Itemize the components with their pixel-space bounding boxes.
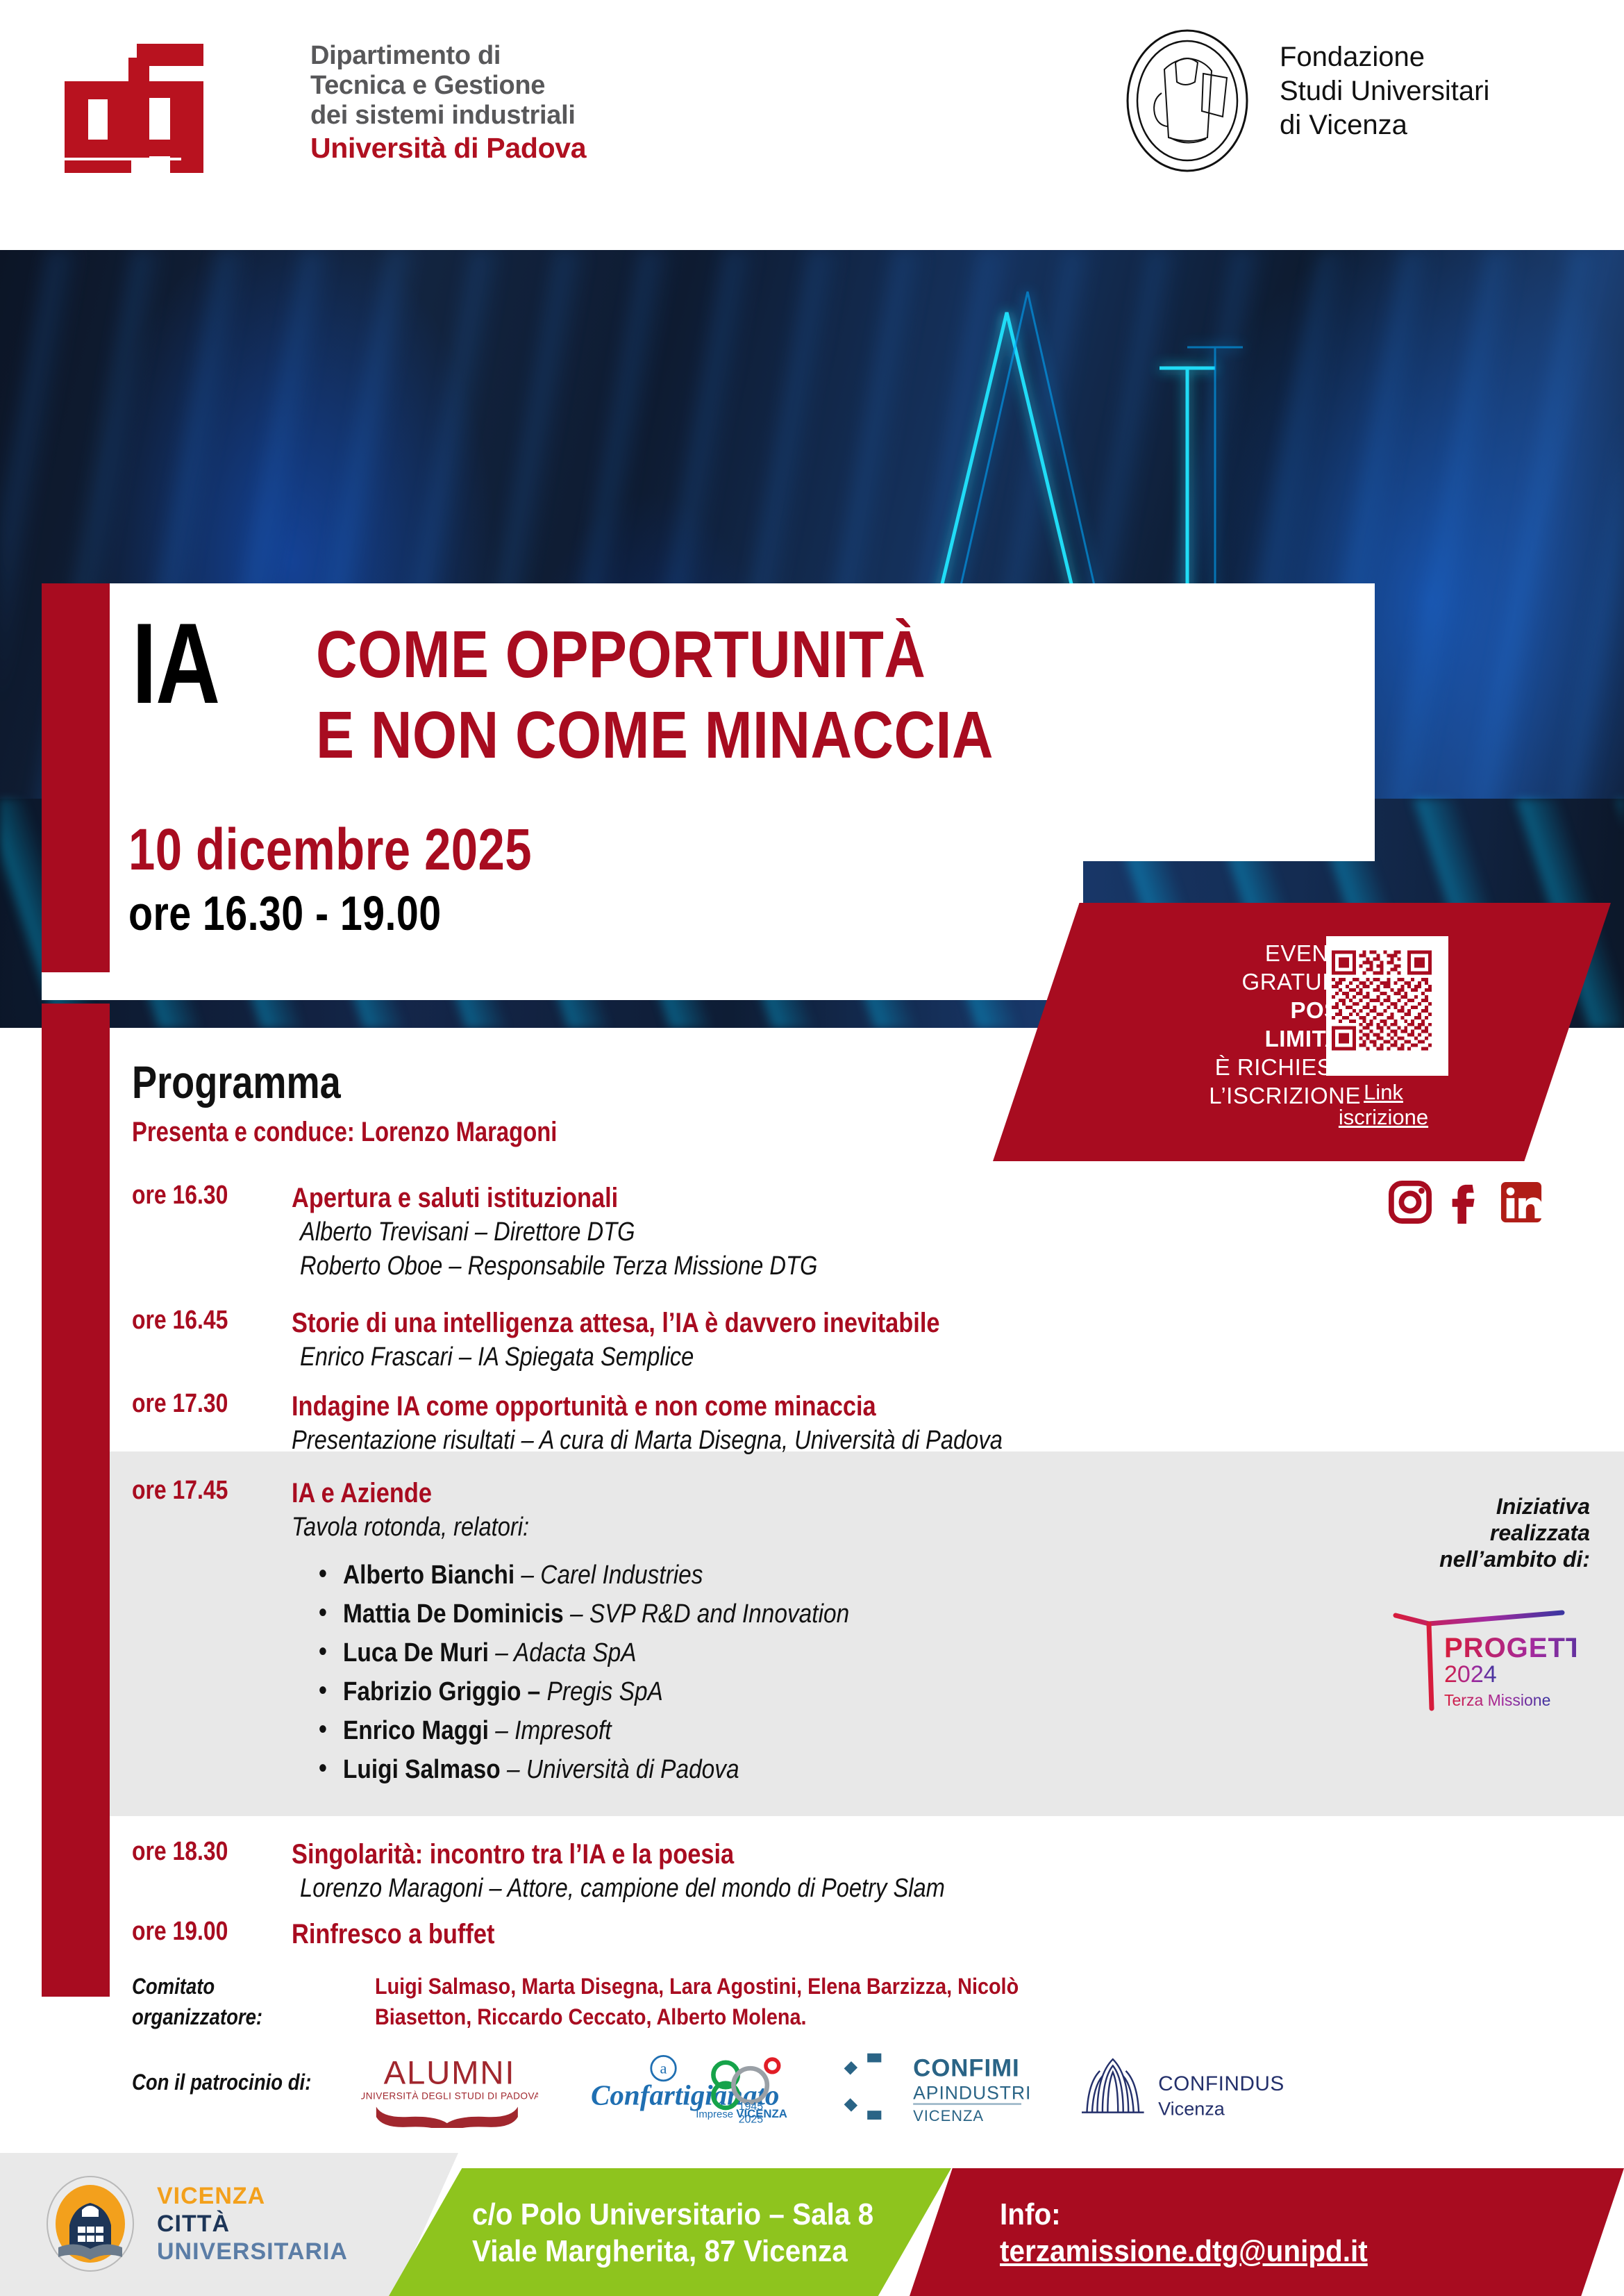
contact-info: Info: terzamissione.dtg@unipd.it — [1000, 2196, 1368, 2270]
panelist-name: Alberto Bianchi — [343, 1561, 514, 1590]
panelist-role: – Impresoft — [495, 1716, 611, 1745]
vicenza-logo-line-3: UNIVERSITARIA — [157, 2238, 348, 2265]
panelist-name: Enrico Maggi — [343, 1716, 489, 1745]
confartigianato-logo-icon: a Confartigianato Imprese VICENZA 1945 2… — [584, 2050, 792, 2131]
poster-footer: VICENZA CITTÀ UNIVERSITARIA c/o Polo Uni… — [0, 2153, 1624, 2296]
program-item-title: Storie di una intelligenza attesa, l’IA … — [292, 1306, 940, 1340]
vicenza-citta-universitaria-logo: VICENZA CITTÀ UNIVERSITARIA — [42, 2175, 348, 2272]
title-accent-bar — [42, 583, 110, 972]
poster-header: Dipartimento di Tecnica e Gestione dei s… — [0, 0, 1624, 250]
svg-text:PROGETTO: PROGETTO — [1444, 1633, 1576, 1663]
university-seal-icon — [1121, 26, 1253, 176]
panelist-name: Mattia De Dominicis — [343, 1599, 564, 1629]
program-item-time: ore 16.45 — [132, 1306, 272, 1336]
list-item: Luca De Muri – Adacta SpA — [343, 1633, 849, 1672]
panelist-role: – Università di Padova — [507, 1755, 739, 1784]
svg-text:APINDUSTRIA: APINDUSTRIA — [913, 2082, 1029, 2103]
svg-text:2025: 2025 — [739, 2113, 763, 2125]
qr-code-icon[interactable] — [1326, 936, 1448, 1076]
initiative-line-3: nell’ambito di: — [1361, 1546, 1590, 1572]
program-item-speaker: Lorenzo Maragoni – Attore, campione del … — [292, 1872, 945, 1906]
svg-text:CONFINDUSTRIA: CONFINDUSTRIA — [1158, 2072, 1283, 2095]
title-headline: COME OPPORTUNITÀ E NON COME MINACCIA — [316, 615, 1104, 776]
venue-line-2: Viale Margherita, 87 Vicenza — [472, 2233, 873, 2270]
initiative-note: Iniziativa realizzata nell’ambito di: — [1361, 1493, 1590, 1572]
initiative-line-2: realizzata — [1361, 1520, 1590, 1546]
info-email-link[interactable]: terzamissione.dtg@unipd.it — [1000, 2234, 1368, 2268]
program-item-time: ore 18.30 — [132, 1837, 272, 1867]
committee-label-l2: organizzatore: — [132, 2002, 262, 2032]
program-item-time: ore 17.30 — [132, 1389, 272, 1419]
venue-line-1: c/o Polo Universitario – Sala 8 — [472, 2196, 873, 2233]
program-item-title: Singolarità: incontro tra l’IA e la poes… — [292, 1837, 945, 1872]
program-item-speaker: Roberto Oboe – Responsabile Terza Missio… — [292, 1249, 817, 1283]
vicenza-seal-icon — [42, 2175, 139, 2272]
page-title: Programma — [132, 1056, 341, 1108]
panelist-role: Pregis SpA — [547, 1677, 663, 1706]
svg-text:a: a — [660, 2059, 667, 2077]
list-item: Alberto Bianchi – Carel Industries — [343, 1556, 849, 1595]
fondazione-line-3: di Vicenza — [1280, 108, 1489, 142]
svg-text:2024: 2024 — [1444, 1661, 1497, 1688]
confimi-apindustria-logo-icon: CONFIMI APINDUSTRIA VICENZA — [838, 2050, 1029, 2131]
dtg-line-2: Tecnica e Gestione — [310, 71, 586, 101]
title-line-1: COME OPPORTUNITÀ — [316, 615, 994, 695]
instagram-icon[interactable] — [1389, 1181, 1432, 1224]
confindustria-logo-icon: CONFINDUSTRIA Vicenza — [1075, 2050, 1283, 2131]
linkedin-icon[interactable] — [1500, 1181, 1543, 1224]
program-item-time: ore 16.30 — [132, 1181, 272, 1211]
program-host: Presenta e conduce: Lorenzo Maragoni — [132, 1117, 557, 1148]
svg-text:VICENZA: VICENZA — [913, 2106, 984, 2124]
panelist-role: – SVP R&D and Innovation — [570, 1599, 849, 1629]
dtg-line-3: dei sistemi industriali — [310, 101, 586, 131]
facebook-icon[interactable] — [1444, 1181, 1487, 1224]
program-item-speaker: Enrico Frascari – IA Spiegata Semplice — [292, 1340, 940, 1374]
dtg-logo: Dipartimento di Tecnica e Gestione dei s… — [59, 38, 586, 174]
fondazione-logo: Fondazione Studi Universitari di Vicenza — [1121, 26, 1489, 176]
event-date: 10 dicembre 2025 — [128, 816, 532, 883]
venue-address: c/o Polo Universitario – Sala 8 Viale Ma… — [472, 2196, 873, 2270]
program-item-speaker: Tavola rotonda, relatori: — [292, 1511, 830, 1545]
program-item-time: ore 17.45 — [132, 1476, 272, 1506]
panelist-name: Luca De Muri — [343, 1638, 489, 1667]
list-item: Fabrizio Griggio – Pregis SpA — [343, 1672, 849, 1711]
svg-text:Terza Missione: Terza Missione — [1444, 1691, 1550, 1709]
fondazione-line-2: Studi Universitari — [1280, 74, 1489, 108]
program-item-title: Indagine IA come opportunità e non come … — [292, 1389, 1003, 1424]
registration-link[interactable]: Link iscrizione — [1319, 1080, 1448, 1130]
list-item: Enrico Maggi – Impresoft — [343, 1711, 849, 1750]
program-item-title: Apertura e saluti istituzionali — [292, 1181, 817, 1215]
dtg-wordmark-icon — [59, 38, 288, 174]
svg-text:Vicenza: Vicenza — [1158, 2098, 1225, 2119]
svg-text:CONFIMI: CONFIMI — [913, 2054, 1019, 2081]
panelist-name: Luigi Salmaso — [343, 1755, 501, 1784]
patronage-label: Con il patrocinio di: — [132, 2070, 311, 2095]
svg-text:1945: 1945 — [739, 2100, 763, 2112]
list-item: Luigi Salmaso – Università di Padova — [343, 1750, 849, 1789]
program-item-title: IA e Aziende — [292, 1476, 830, 1511]
dtg-line-1: Dipartimento di — [310, 41, 586, 71]
committee-names: Luigi Salmaso, Marta Disegna, Lara Agost… — [375, 1971, 1094, 2032]
committee-label-l1: Comitato — [132, 1971, 262, 2002]
svg-text:ALUMNI: ALUMNI — [384, 2054, 516, 2091]
program-item-time: ore 19.00 — [132, 1917, 272, 1947]
program-item-speaker: Alberto Trevisani – Direttore DTG — [292, 1215, 817, 1249]
social-links — [1389, 1181, 1543, 1224]
dtg-line-4: Università di Padova — [310, 131, 586, 165]
panelist-name: Fabrizio Griggio – — [343, 1677, 540, 1706]
info-label: Info: — [1000, 2196, 1368, 2233]
event-time: ore 16.30 - 19.00 — [128, 885, 442, 941]
title-ia: IA — [132, 611, 219, 715]
vicenza-logo-line-2: CITTÀ — [157, 2210, 348, 2238]
progetto-2024-logo: PROGETTO 2024 Terza Missione — [1389, 1604, 1576, 1715]
vicenza-logo-line-1: VICENZA — [157, 2182, 348, 2210]
program-item-title: Rinfresco a buffet — [292, 1917, 494, 1952]
title-line-2: E NON COME MINACCIA — [316, 695, 994, 776]
program-item-speaker: Presentazione risultati – A cura di Mart… — [292, 1424, 1003, 1458]
alumni-logo-icon: ALUMNI UNIVERSITÀ DEGLI STUDI DI PADOVA — [361, 2050, 538, 2131]
panel-speaker-list: Alberto Bianchi – Carel Industries Matti… — [292, 1556, 919, 1789]
panelist-role: – Adacta SpA — [495, 1638, 636, 1667]
patronage-logos: ALUMNI UNIVERSITÀ DEGLI STUDI DI PADOVA … — [361, 2038, 1486, 2143]
list-item: Mattia De Dominicis – SVP R&D and Innova… — [343, 1595, 849, 1633]
svg-text:UNIVERSITÀ DEGLI STUDI DI PADO: UNIVERSITÀ DEGLI STUDI DI PADOVA — [361, 2090, 538, 2101]
program-accent-bar — [42, 1004, 110, 1997]
panelist-role: – Carel Industries — [521, 1561, 703, 1590]
initiative-line-1: Iniziativa — [1361, 1493, 1590, 1520]
committee-label: Comitato organizzatore: — [132, 1971, 262, 2032]
fondazione-line-1: Fondazione — [1280, 40, 1489, 74]
